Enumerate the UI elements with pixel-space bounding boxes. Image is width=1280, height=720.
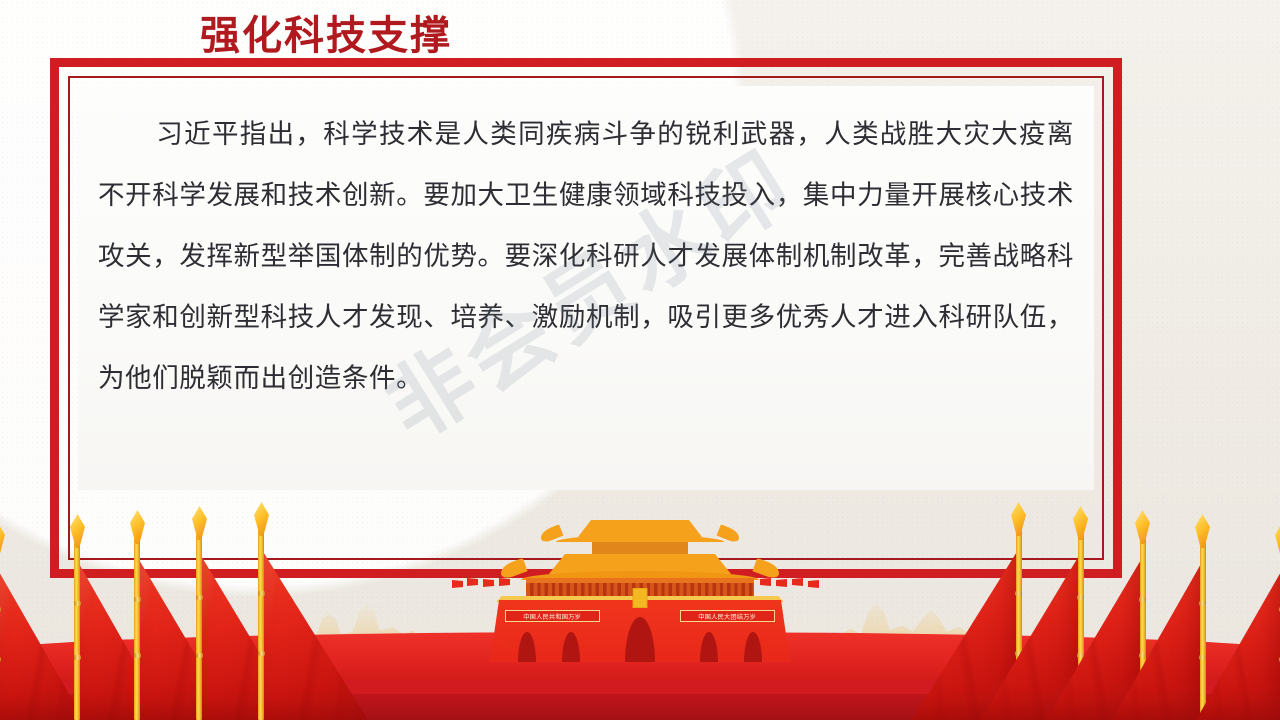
flag-pole-joint — [134, 597, 141, 602]
flag-pole — [196, 534, 202, 720]
mini-flag-right-4 — [808, 580, 819, 588]
flag-pole-joint — [134, 653, 141, 658]
flag-fold — [1196, 570, 1280, 720]
flag-pole — [74, 542, 80, 720]
content-text-panel: 非会员水印 习近平指出，科学技术是人类同疾病斗争的锐利武器，人类战胜大灾大疫离不… — [78, 86, 1094, 490]
flag-pole-joint — [258, 651, 265, 656]
bottom-illustration: 中国人民共和国万岁 中国人民大团结万岁 — [0, 485, 1280, 720]
roof-upper-eave — [556, 535, 724, 542]
slide-canvas: 强化科技支撑 非会员水印 习近平指出，科学技术是人类同疾病斗争的锐利武器，人类战… — [0, 0, 1280, 720]
flag-pole-joint — [196, 653, 203, 658]
slogan-banner-left: 中国人民共和国万岁 — [505, 610, 600, 622]
slogan-banner-left-text: 中国人民共和国万岁 — [524, 611, 582, 621]
page-title: 强化科技支撑 — [200, 12, 452, 60]
mini-flag-left-2 — [467, 578, 478, 586]
flag-pole-joint — [258, 591, 265, 596]
body-paragraph: 习近平指出，科学技术是人类同疾病斗争的锐利武器，人类战胜大灾大疫离不开科学发展和… — [98, 104, 1074, 409]
flag-finial — [130, 510, 145, 544]
flag-left-5 — [228, 512, 368, 720]
flag-right-1 — [1196, 530, 1280, 720]
flag-fold — [262, 550, 368, 720]
mini-flag-left-1 — [452, 580, 463, 588]
flag-pole — [134, 538, 140, 720]
roof-eave-flick-mid-right — [752, 558, 781, 580]
flag-finial — [0, 522, 5, 556]
flag-finial — [192, 506, 207, 540]
central-plaque — [633, 588, 648, 608]
flag-pole-joint — [196, 595, 203, 600]
flag-pole-joint — [74, 655, 81, 660]
flag-finial — [70, 514, 85, 548]
slogan-banner-right: 中国人民大团结万岁 — [680, 610, 775, 622]
flag-finial — [254, 502, 269, 536]
flag-fold — [1112, 562, 1202, 720]
tiananmen-gate: 中国人民共和国万岁 中国人民大团结万岁 — [485, 520, 795, 680]
slogan-banner-right-text: 中国人民大团结万岁 — [699, 611, 757, 621]
flag-pole — [258, 530, 264, 720]
roof-eave-flick-mid-left — [498, 558, 527, 580]
flag-pole-joint — [74, 601, 81, 606]
